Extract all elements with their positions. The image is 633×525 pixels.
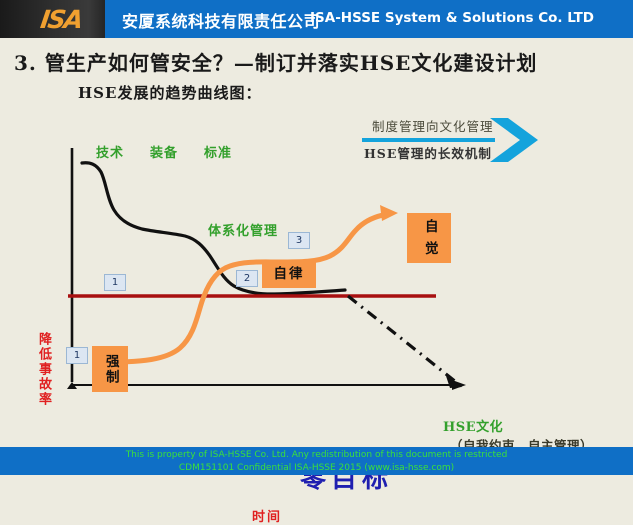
page-title: 3. 管生产如何管安全？—制订并落实HSE文化建设计划: [14, 47, 537, 76]
label-standard: 标准: [204, 142, 232, 161]
label-hse-culture: HSE文化: [443, 416, 503, 435]
label-systematic-management: 体系化管理: [208, 220, 278, 239]
badge-stage-3: 3: [288, 232, 310, 249]
label-equipment: 装备: [150, 142, 178, 161]
zero-goal-arrow-icon: [446, 376, 462, 388]
badge-stage-1: 1: [66, 347, 88, 364]
company-name-en: ISA-HSSE System & Solutions Co. LTD: [310, 10, 594, 26]
zero-goal-trend-line: [348, 296, 456, 382]
company-name-cn: 安厦系统科技有限责任公司: [122, 8, 320, 32]
x-axis-label: 时间: [252, 506, 282, 525]
badge-stage-2: 2: [236, 270, 258, 287]
management-curve-arrow-icon: [380, 205, 398, 221]
isa-logo: ISA: [20, 6, 102, 33]
footer-line-2: CDM151101 Confidential ISA-HSSE 2015 (ww…: [0, 462, 633, 475]
page-subtitle: HSE发展的趋势曲线图：: [78, 82, 261, 103]
stage-box-self-discipline[interactable]: 自律: [262, 262, 316, 288]
y-axis-label: 降低事故率: [34, 332, 53, 407]
stage-box-self-awareness[interactable]: 自 觉: [407, 213, 451, 263]
app-header: ISA 安厦系统科技有限责任公司 ISA-HSSE System & Solut…: [0, 0, 633, 38]
stage-box-forced[interactable]: 强制: [92, 346, 128, 392]
footer-line-1: This is property of ISA-HSSE Co. Ltd. An…: [0, 449, 633, 462]
label-technology: 技术: [96, 142, 124, 161]
badge-axis-upper-1: 1: [104, 274, 126, 291]
hse-trend-chart: 降低事故率 时间 技术 装备 标准 体系化管理 3 2 1 1 强制 自律 自 …: [0, 110, 633, 430]
page-footer: This is property of ISA-HSSE Co. Ltd. An…: [0, 447, 633, 475]
